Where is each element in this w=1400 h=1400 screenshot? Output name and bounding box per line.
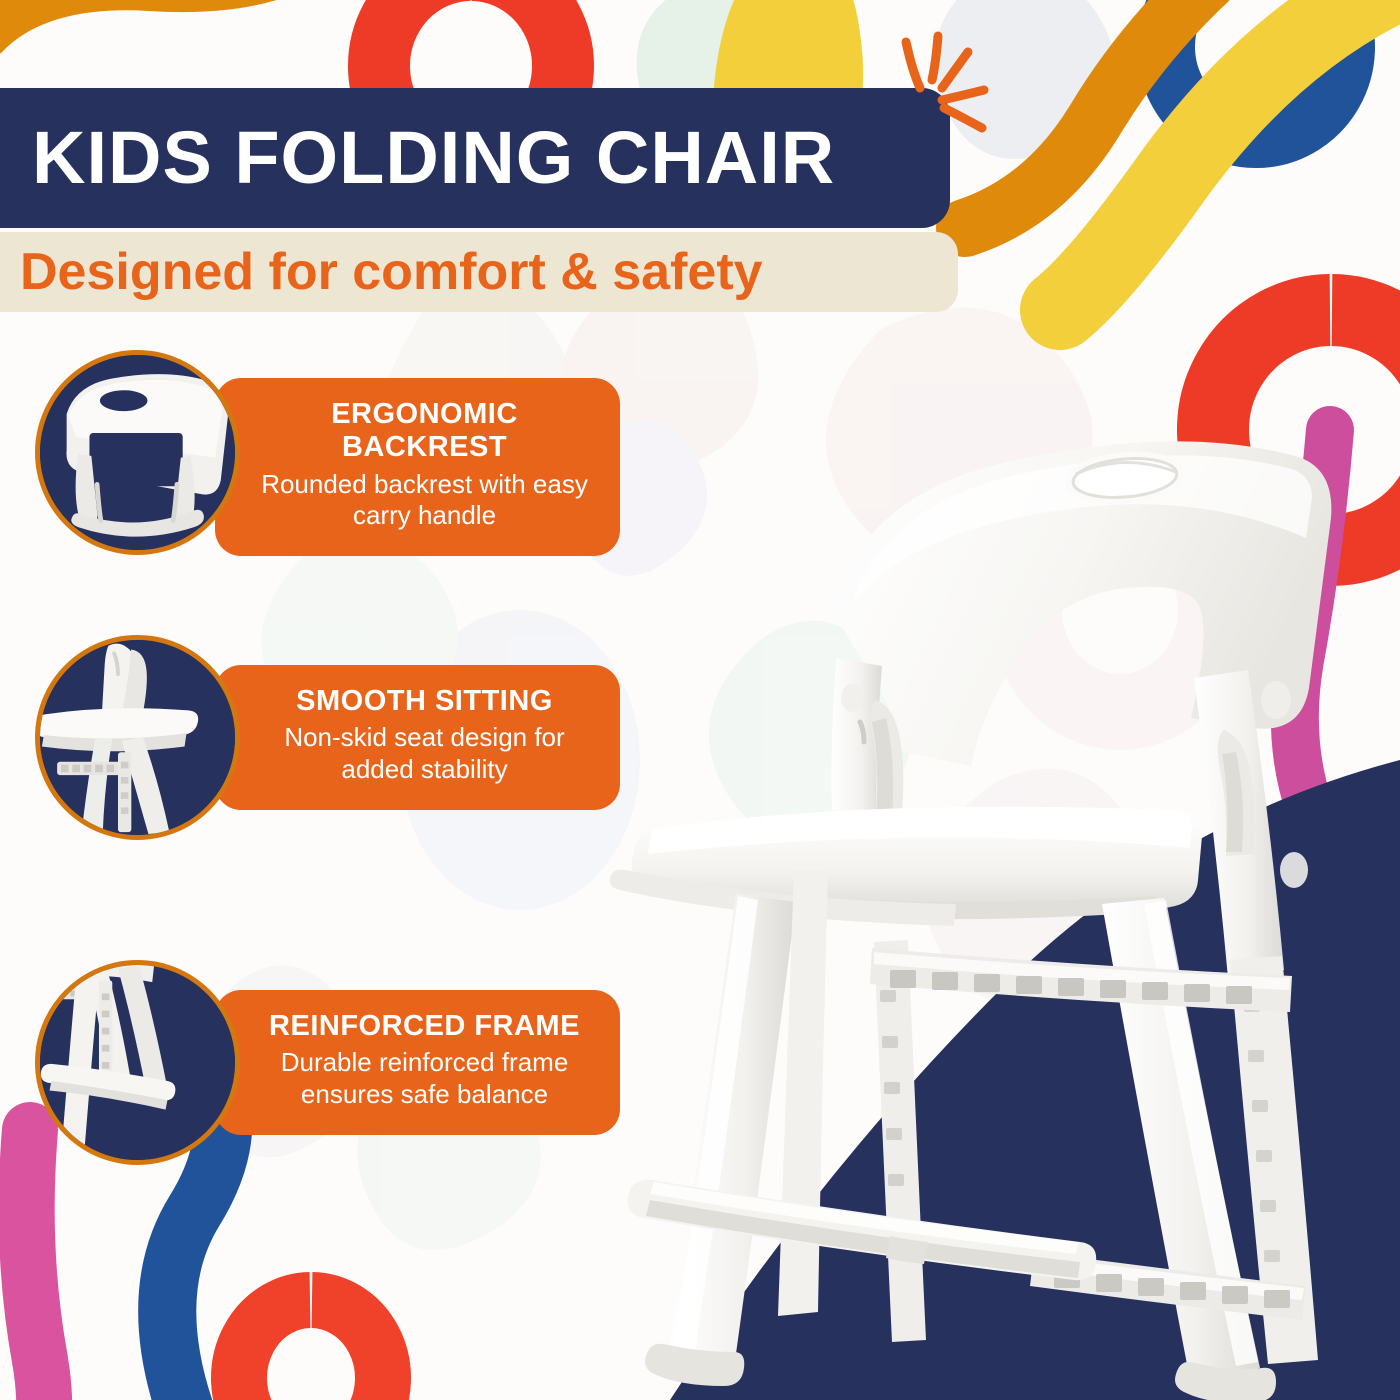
sparkle-icon [872, 30, 1002, 160]
feature-thumb-1 [35, 350, 240, 555]
product-image [560, 400, 1400, 1400]
feature-title-1: ERGONOMIC BACKREST [255, 398, 594, 465]
feature-desc-1: Rounded backrest with easy carry handle [255, 469, 594, 532]
feature-thumb-3 [35, 960, 240, 1165]
feature-title-2: SMOOTH SITTING [255, 685, 594, 718]
feature-row-ergonomic-backrest: ERGONOMIC BACKREST Rounded backrest with… [0, 350, 640, 560]
feature-title-3: REINFORCED FRAME [255, 1010, 594, 1043]
feature-thumb-2 [35, 635, 240, 840]
page-subtitle: Designed for comfort & safety [20, 246, 763, 298]
page-title: KIDS FOLDING CHAIR [32, 121, 835, 195]
feature-row-smooth-sitting: SMOOTH SITTING Non-skid seat design for … [0, 635, 640, 845]
title-bar: KIDS FOLDING CHAIR [0, 88, 950, 228]
subtitle-band: Designed for comfort & safety [0, 232, 958, 312]
feature-desc-3: Durable reinforced frame ensures safe ba… [255, 1047, 594, 1110]
feature-row-reinforced-frame: REINFORCED FRAME Durable reinforced fram… [0, 960, 640, 1170]
feature-desc-2: Non-skid seat design for added stability [255, 722, 594, 785]
product-infographic-poster: KIDS FOLDING CHAIR Designed for comfort … [0, 0, 1400, 1400]
